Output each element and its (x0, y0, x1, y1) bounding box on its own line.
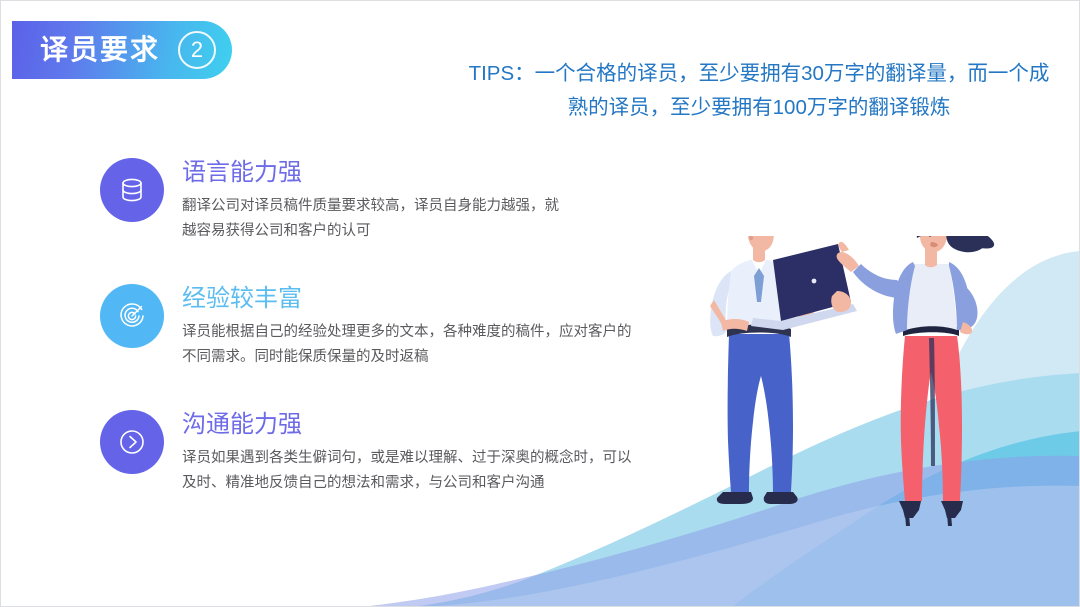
feature-description: 翻译公司对译员稿件质量要求较高，译员自身能力越强，就 越容易获得公司和客户的认可 (182, 194, 559, 244)
feature-list: 语言能力强 翻译公司对译员稿件质量要求较高，译员自身能力越强，就 越容易获得公司… (100, 156, 710, 496)
two-people-with-laptop-illustration (701, 236, 1031, 526)
feature-body: 沟通能力强 译员如果遇到各类生僻词句，或是难以理解、过于深奥的概念时，可以 及时… (182, 408, 632, 496)
tips-text: TIPS：一个合格的译员，至少要拥有30万字的翻译量，而一个成熟的译员，至少要拥… (459, 57, 1059, 125)
feature-description: 译员能根据自己的经验处理更多的文本，各种难度的稿件，应对客户的 不同需求。同时能… (182, 320, 632, 370)
illustration-man (710, 236, 857, 504)
feature-title: 经验较丰富 (182, 284, 632, 314)
chevron-right-circle-icon (100, 410, 164, 474)
illustration-woman (837, 236, 995, 526)
page-title: 译员要求 (40, 36, 160, 64)
feature-title: 语言能力强 (182, 158, 559, 188)
database-icon (100, 158, 164, 222)
list-item: 语言能力强 翻译公司对译员稿件质量要求较高，译员自身能力越强，就 越容易获得公司… (100, 156, 710, 244)
target-icon (100, 284, 164, 348)
feature-title: 沟通能力强 (182, 410, 632, 440)
list-item: 沟通能力强 译员如果遇到各类生僻词句，或是难以理解、过于深奥的概念时，可以 及时… (100, 408, 710, 496)
list-item: 经验较丰富 译员能根据自己的经验处理更多的文本，各种难度的稿件，应对客户的 不同… (100, 282, 710, 370)
feature-description: 译员如果遇到各类生僻词句，或是难以理解、过于深奥的概念时，可以 及时、精准地反馈… (182, 446, 632, 496)
header-badge: 译员要求 2 (12, 21, 232, 79)
status-badge: 2 (178, 31, 216, 69)
feature-body: 语言能力强 翻译公司对译员稿件质量要求较高，译员自身能力越强，就 越容易获得公司… (182, 156, 559, 244)
slide-canvas: 译员要求 2 TIPS：一个合格的译员，至少要拥有30万字的翻译量，而一个成熟的… (0, 0, 1080, 607)
feature-body: 经验较丰富 译员能根据自己的经验处理更多的文本，各种难度的稿件，应对客户的 不同… (182, 282, 632, 370)
